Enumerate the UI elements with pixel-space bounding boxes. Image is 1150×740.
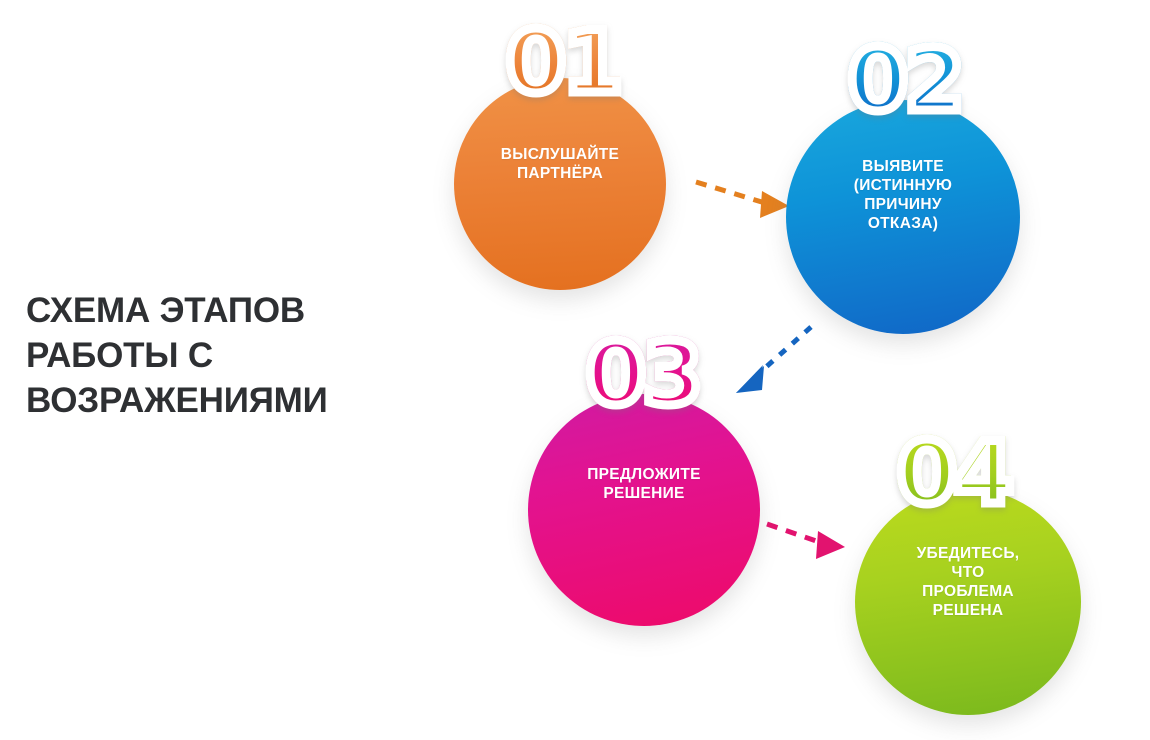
arrow-01-to-02 — [696, 182, 789, 218]
arrow-03-to-04 — [767, 524, 845, 559]
step-03-number: 03 — [586, 332, 700, 418]
step-02-number: 02 — [848, 38, 962, 124]
page-title: СХЕМА ЭТАПОВ РАБОТЫ С ВОЗРАЖЕНИЯМИ — [26, 288, 426, 423]
infographic-canvas: СХЕМА ЭТАПОВ РАБОТЫ С ВОЗРАЖЕНИЯМИ 01 ВЫ… — [0, 0, 1150, 740]
step-circle-01[interactable]: 01 ВЫСЛУШАЙТЕ ПАРТНЁРА — [454, 78, 666, 290]
step-circle-03[interactable]: 03 ПРЕДЛОЖИТЕ РЕШЕНИЕ — [528, 394, 760, 626]
step-circle-04[interactable]: 04 УБЕДИТЕСЬ, ЧТО ПРОБЛЕМА РЕШЕНА — [855, 489, 1081, 715]
step-circle-02[interactable]: 02 ВЫЯВИТЕ (ИСТИННУЮ ПРИЧИНУ ОТКАЗА) — [786, 100, 1020, 334]
step-03-bubble — [528, 394, 760, 626]
step-04-number: 04 — [897, 431, 1011, 517]
arrow-02-to-03 — [736, 327, 811, 393]
title-line-2: РАБОТЫ С — [26, 333, 426, 378]
title-line-1: СХЕМА ЭТАПОВ — [26, 288, 426, 333]
step-02-bubble — [786, 100, 1020, 334]
title-line-3: ВОЗРАЖЕНИЯМИ — [26, 378, 426, 423]
step-01-number: 01 — [506, 20, 620, 106]
